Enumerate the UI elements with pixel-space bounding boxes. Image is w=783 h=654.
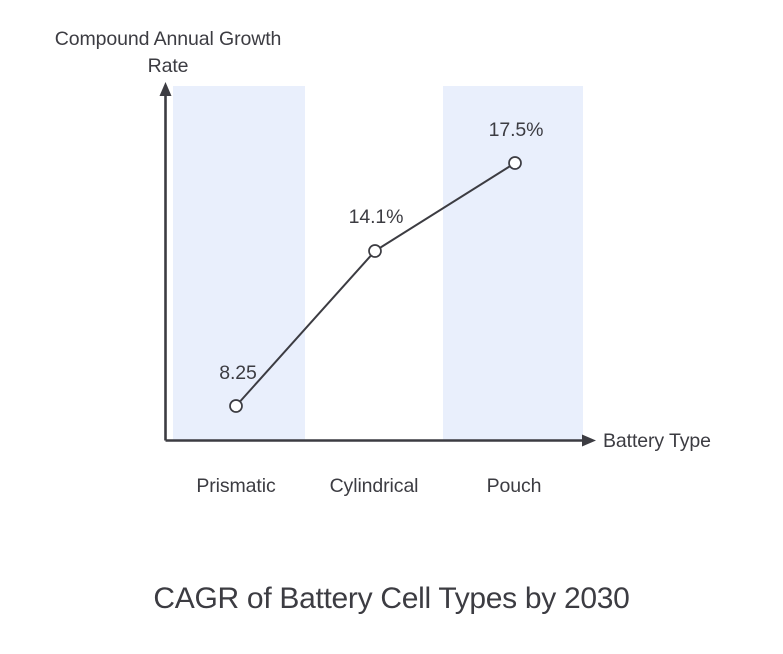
chart-title: CAGR of Battery Cell Types by 2030: [0, 578, 783, 620]
data-point-marker-prismatic[interactable]: [230, 400, 242, 412]
data-point-marker-pouch[interactable]: [509, 157, 521, 169]
category-band-prismatic: [173, 86, 305, 440]
x-axis-arrow-icon: [582, 435, 596, 447]
data-label-cylindrical: 14.1%: [349, 205, 404, 229]
data-label-prismatic: 8.25: [219, 361, 257, 385]
plot-area: [0, 0, 783, 654]
x-tick-label-cylindrical: Cylindrical: [330, 473, 419, 499]
x-tick-label-prismatic: Prismatic: [196, 473, 275, 499]
y-axis-arrow-icon: [160, 82, 172, 96]
chart-container: Compound Annual Growth Rate 8.25 14.1% 1…: [0, 0, 783, 654]
x-axis-title: Battery Type: [603, 429, 711, 453]
data-point-marker-cylindrical[interactable]: [369, 245, 381, 257]
data-label-pouch: 17.5%: [489, 118, 544, 142]
x-tick-label-pouch: Pouch: [487, 473, 542, 499]
